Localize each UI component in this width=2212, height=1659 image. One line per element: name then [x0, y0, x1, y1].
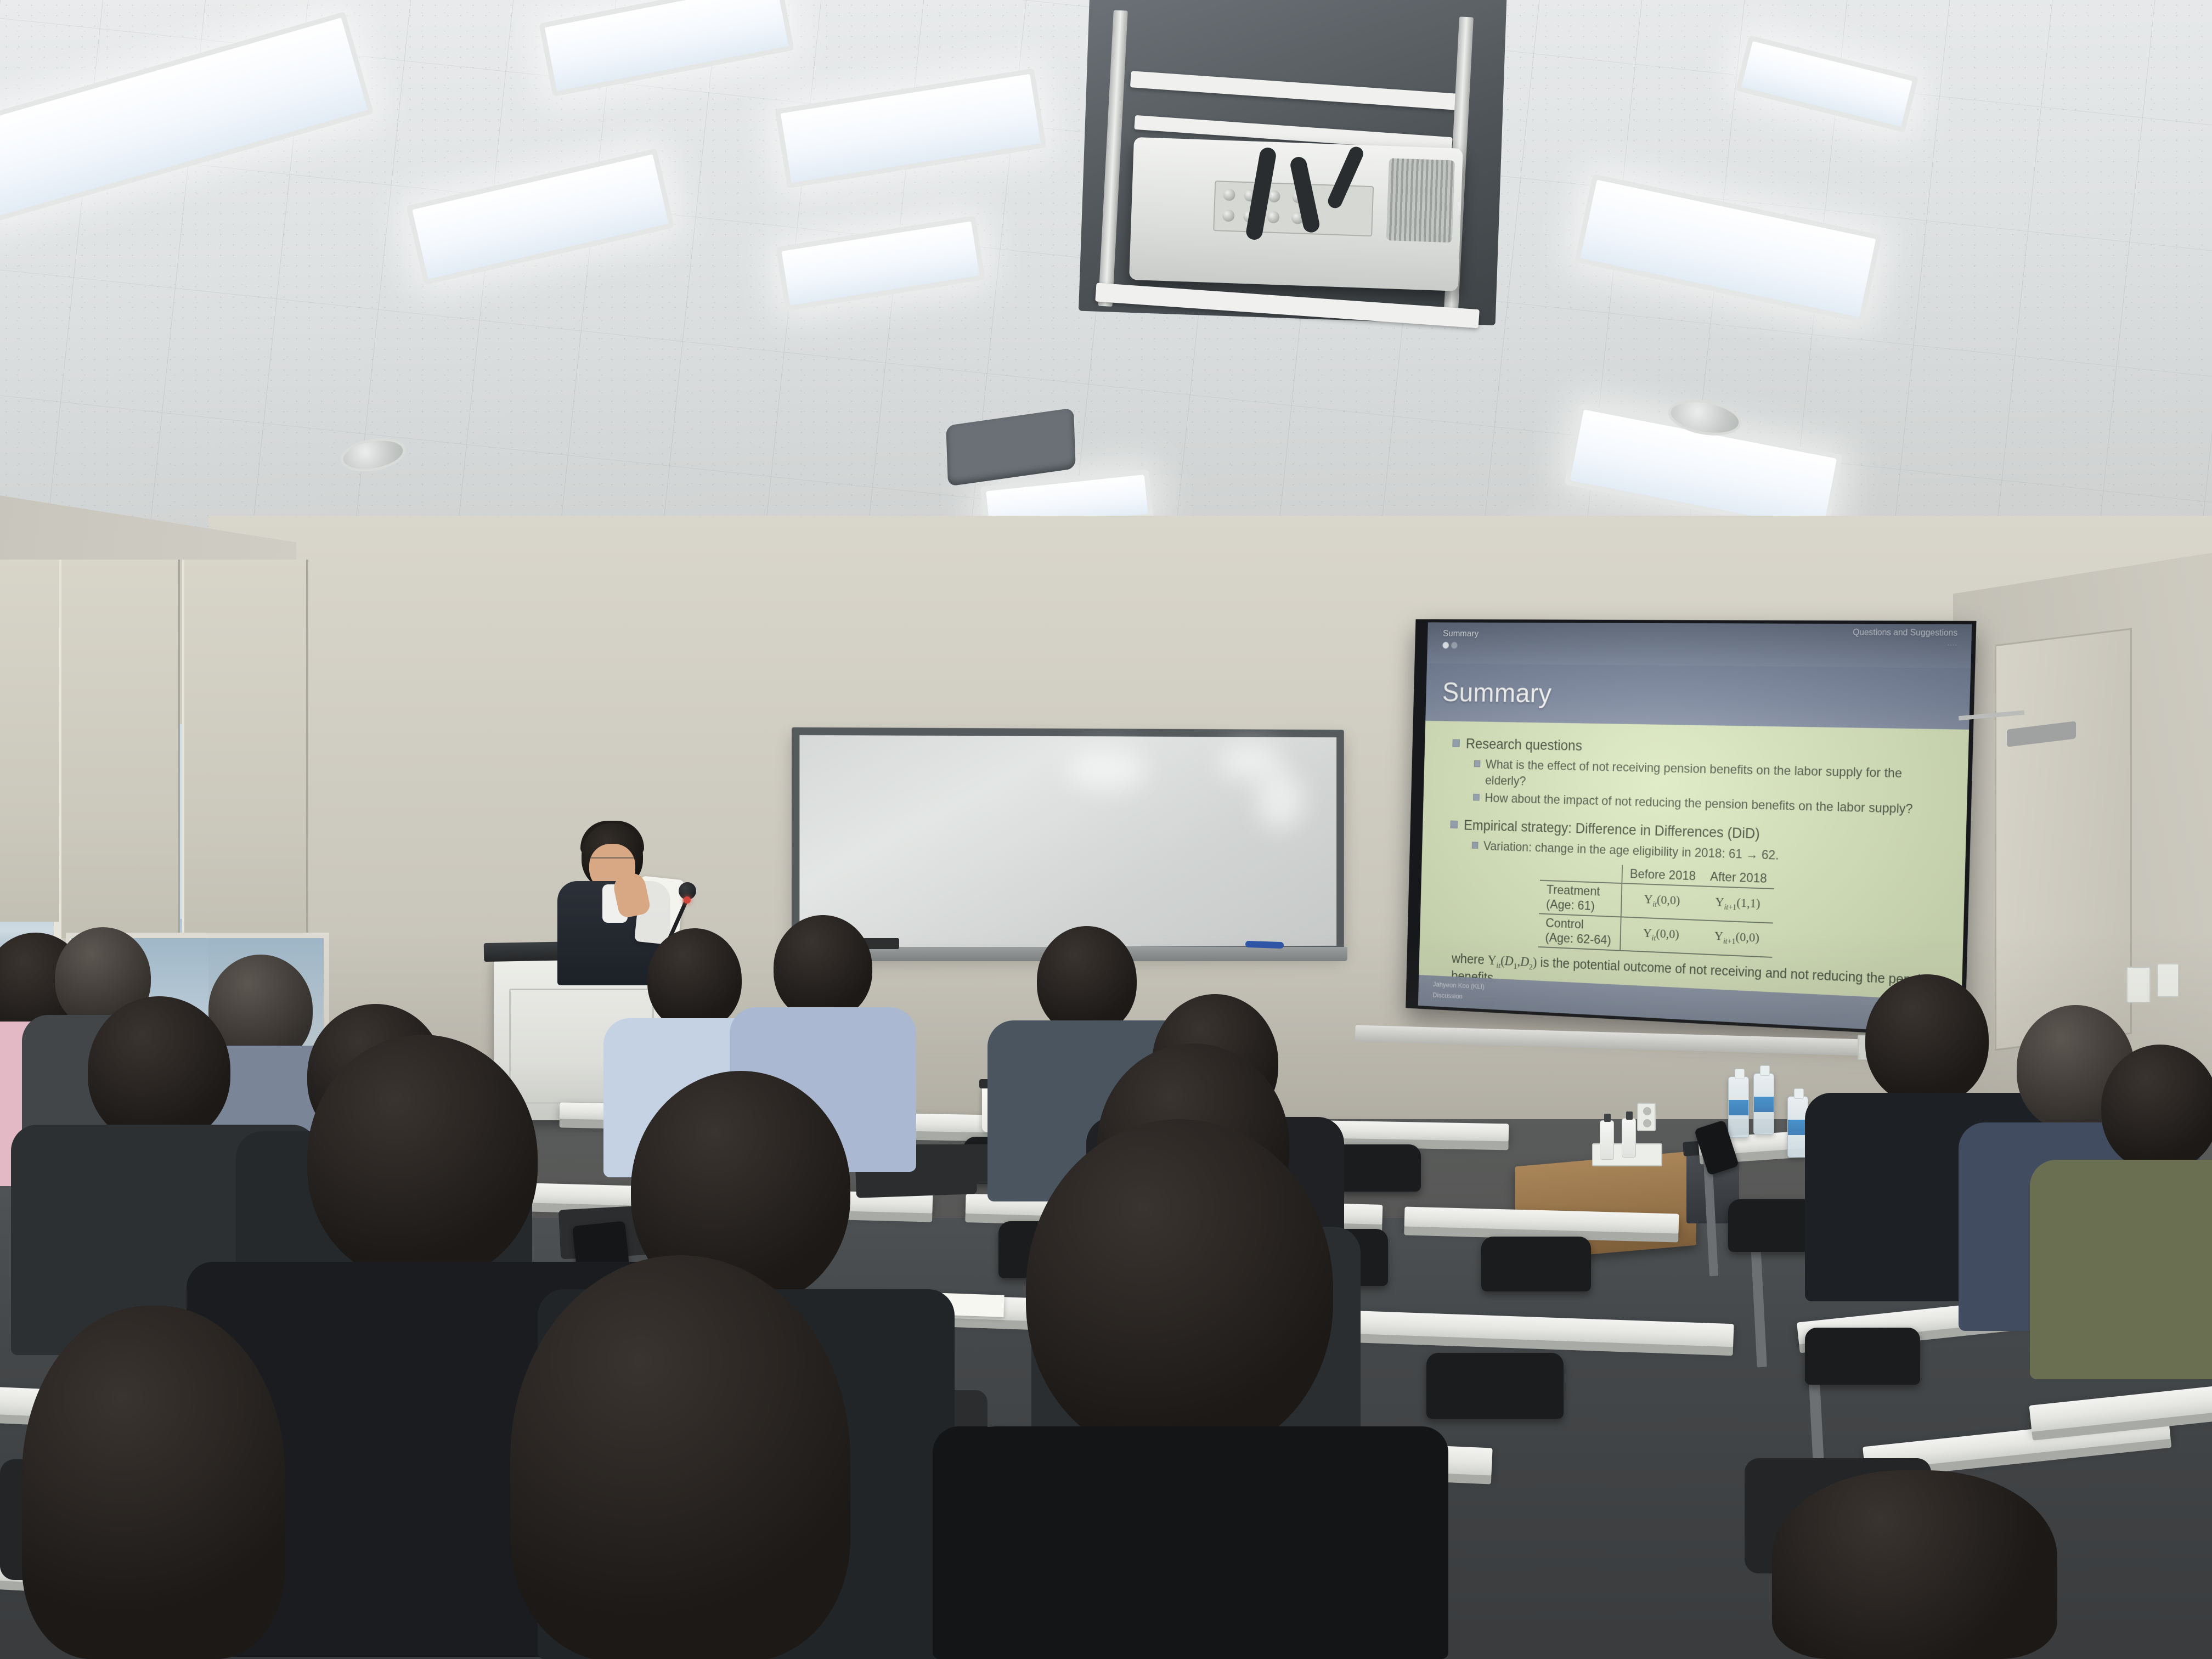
table-cell-after: Yit+1(1,1) — [1702, 886, 1774, 923]
progress-dot — [1451, 642, 1458, 648]
progress-dot-active — [1442, 642, 1449, 648]
sanitizer-tray — [1592, 1143, 1662, 1166]
chair — [1805, 1328, 1920, 1385]
row-label-line1: Control — [1545, 916, 1584, 932]
projector-port — [1268, 190, 1280, 203]
projector-vent — [1386, 158, 1455, 242]
wall-outlet — [1637, 1103, 1656, 1131]
outlet-socket — [1643, 1119, 1651, 1127]
slide-nav-upcoming-dots: ···· — [1853, 640, 1957, 649]
row-label-line1: Treatment — [1547, 883, 1600, 899]
bullet-square-icon — [1451, 821, 1458, 828]
projector-port-panel — [1213, 180, 1374, 236]
chair — [1481, 1237, 1591, 1291]
whiteboard-glare — [1065, 747, 1147, 791]
projector-icon — [1129, 137, 1463, 291]
eyeglasses-icon — [590, 857, 634, 867]
hand-sanitizer-bottle — [1600, 1120, 1614, 1160]
table-corner-cell — [1540, 862, 1623, 883]
slide-nav-bar: Summary Questions and Suggestions ···· — [1427, 622, 1972, 668]
projector-port — [1267, 211, 1280, 223]
row-label-line2: (Age: 61) — [1546, 897, 1595, 913]
projector-port — [1222, 210, 1235, 222]
slide-title-bar: Summary — [1425, 663, 1971, 730]
microphone-led-icon — [684, 896, 691, 904]
water-bottle — [1728, 1076, 1749, 1138]
bullet-text: Research questions — [1466, 735, 1583, 755]
bullet-square-icon — [1473, 794, 1480, 801]
roller-blind[interactable] — [182, 560, 308, 944]
whiteboard-glare — [1256, 770, 1304, 830]
table-column-header: After 2018 — [1703, 867, 1775, 889]
slide-title: Summary — [1442, 677, 1552, 709]
projector-lift-assembly — [1061, 0, 1522, 353]
hand-sanitizer-bottle — [1622, 1118, 1636, 1158]
projector-port — [1223, 189, 1235, 201]
outlet-socket — [1643, 1107, 1651, 1115]
chair — [1426, 1353, 1564, 1419]
bullet-square-icon — [1452, 739, 1459, 747]
table-column-header: Before 2018 — [1622, 865, 1703, 886]
slide-nav-upcoming: Questions and Suggestions ···· — [1853, 628, 1958, 649]
seminar-room-photo: Summary Questions and Suggestions ···· S… — [0, 0, 2212, 1659]
table-row-label: Treatment (Age: 61) — [1539, 881, 1622, 917]
bullet-square-icon — [1474, 760, 1481, 766]
slide-nav-upcoming-label: Questions and Suggestions — [1853, 628, 1957, 638]
table-cell-before: Yit(0,0) — [1621, 883, 1702, 920]
slide-nav-section: Summary — [1443, 629, 1479, 639]
water-bottle — [1753, 1073, 1774, 1135]
slide-progress-dots — [1442, 642, 1457, 648]
roller-blind[interactable] — [59, 560, 180, 938]
bullet-square-icon — [1472, 842, 1479, 849]
whiteboard — [792, 727, 1344, 956]
